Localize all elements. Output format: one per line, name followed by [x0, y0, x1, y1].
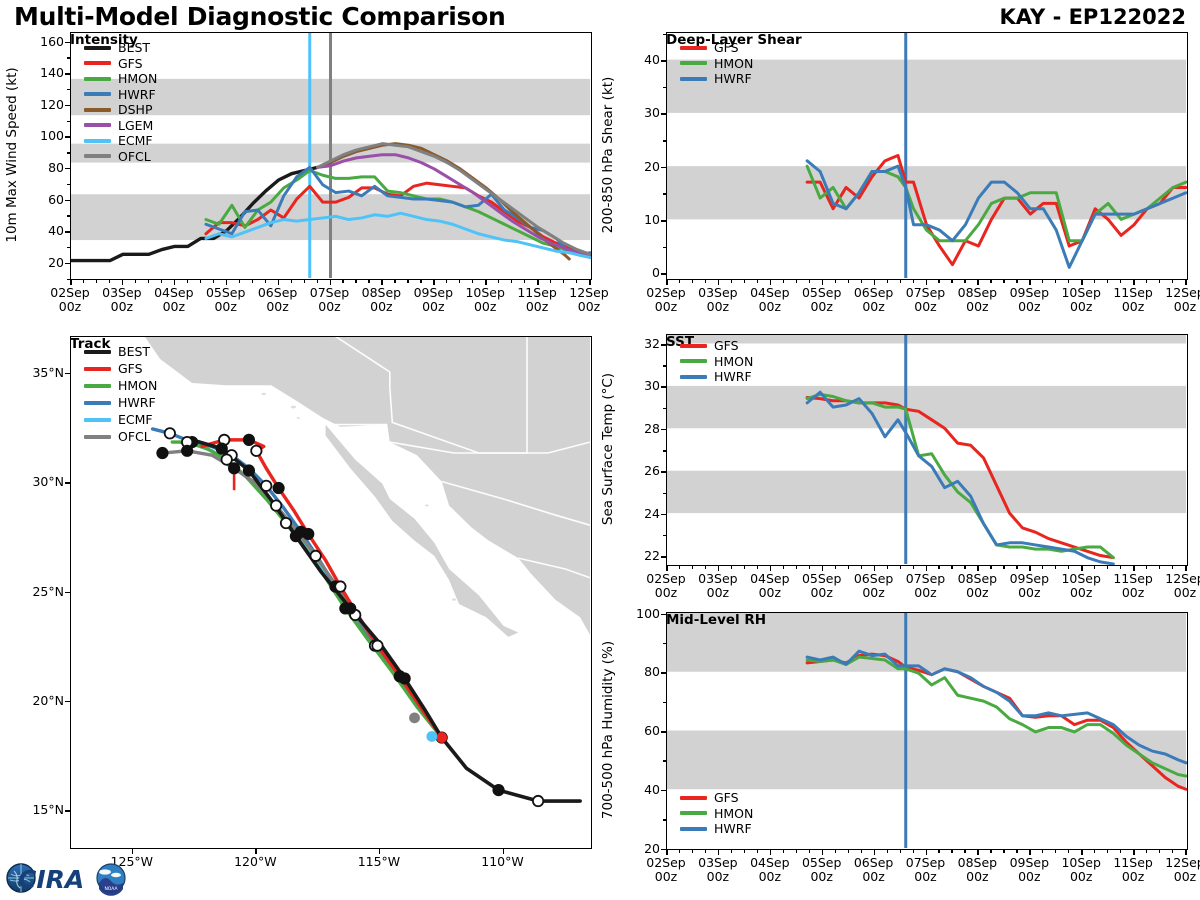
- sst-x-minor-tick: [731, 565, 732, 569]
- sst-x-minor-tick: [1068, 565, 1069, 569]
- legend-label-hwrf: HWRF: [118, 88, 156, 101]
- rh-x-minor-tick: [809, 849, 810, 853]
- sst-x-minor-tick: [1003, 565, 1004, 569]
- intensity-y-tick-mark: [65, 168, 71, 170]
- intensity-x-minor-tick: [550, 279, 551, 283]
- rh-x-minor-tick: [913, 849, 914, 853]
- rh-x-minor-tick: [1107, 849, 1108, 853]
- legend-swatch-hwrf: [84, 92, 111, 96]
- sst-legend[interactable]: GFSHMONHWRF: [680, 338, 753, 385]
- track-legend-item-hwrf[interactable]: HWRF: [84, 394, 157, 411]
- cira-logo: CIRA NOAA: [4, 858, 128, 898]
- legend-swatch-ofcl: [84, 154, 111, 158]
- rh-x-minor-tick: [783, 849, 784, 853]
- rh-x-minor-tick: [744, 849, 745, 853]
- shear-y-tick-label: 10: [624, 212, 660, 227]
- sst-x-minor-tick: [692, 565, 693, 569]
- legend-item-hwrf[interactable]: HWRF: [680, 821, 753, 837]
- track-lat-tick-mark: [65, 482, 71, 484]
- rh-x-minor-tick: [848, 849, 849, 853]
- sst-x-minor-tick: [990, 565, 991, 569]
- sst-x-minor-tick: [887, 565, 888, 569]
- sst-x-minor-tick: [1016, 565, 1017, 569]
- shear-x-minor-tick: [1094, 279, 1095, 283]
- sst-y-minor-tick: [663, 535, 667, 537]
- rh-y-tick-label: 60: [624, 723, 660, 738]
- shear-x-minor-tick: [731, 279, 732, 283]
- rh-x-minor-tick: [887, 849, 888, 853]
- sst-x-minor-tick: [809, 565, 810, 569]
- intensity-x-minor-tick: [200, 279, 201, 283]
- sst-x-minor-tick: [744, 565, 745, 569]
- rh-x-minor-tick: [964, 849, 965, 853]
- legend-swatch-hmon: [680, 61, 707, 65]
- intensity-y-tick-mark: [65, 263, 71, 265]
- rh-panel-title: Mid-Level RH: [666, 612, 1188, 628]
- rh-x-minor-tick: [990, 849, 991, 853]
- sst-x-minor-tick: [783, 565, 784, 569]
- track-legend-item-ecmf[interactable]: ECMF: [84, 411, 157, 428]
- legend-label-best: BEST: [118, 41, 150, 54]
- rh-x-tick-label: 12Sep00z: [1155, 856, 1200, 884]
- shear-x-minor-tick: [913, 279, 914, 283]
- intensity-x-minor-tick: [265, 279, 266, 283]
- rh-x-minor-tick: [938, 849, 939, 853]
- legend-item-gfs[interactable]: GFS: [680, 40, 753, 56]
- track-lat-tick-mark: [65, 592, 71, 594]
- shear-x-minor-tick: [809, 279, 810, 283]
- rh-y-tick-label: 20: [624, 841, 660, 856]
- legend-label-hmon: HMON: [714, 57, 753, 70]
- shear-y-tick-label: 20: [624, 159, 660, 174]
- intensity-y-tick-label: 40: [28, 223, 64, 238]
- legend-item-hmon[interactable]: HMON: [680, 56, 753, 72]
- intensity-x-minor-tick: [368, 279, 369, 283]
- intensity-x-minor-tick: [252, 279, 253, 283]
- rh-legend[interactable]: GFSHMONHWRF: [680, 790, 753, 837]
- track-legend-swatch-ofcl: [84, 435, 111, 439]
- intensity-x-minor-tick: [213, 279, 214, 283]
- shear-x-minor-tick: [848, 279, 849, 283]
- intensity-x-minor-tick: [472, 279, 473, 283]
- shear-y-minor-tick: [663, 140, 667, 142]
- shear-x-minor-tick: [705, 279, 706, 283]
- legend-item-hwrf[interactable]: HWRF: [680, 71, 753, 87]
- sst-x-minor-tick: [835, 565, 836, 569]
- shear-y-tick-mark: [661, 60, 667, 62]
- rh-x-minor-tick: [951, 849, 952, 853]
- page-title: Multi-Model Diagnostic Comparison: [14, 2, 506, 31]
- intensity-x-minor-tick: [317, 279, 318, 283]
- intensity-x-minor-tick: [355, 279, 356, 283]
- rh-x-minor-tick: [731, 849, 732, 853]
- track-legend-item-hmon[interactable]: HMON: [84, 377, 157, 394]
- shear-x-minor-tick: [964, 279, 965, 283]
- track-lat-tick-label: 35°N: [12, 365, 64, 380]
- sst-x-minor-tick: [1172, 565, 1173, 569]
- shear-x-minor-tick: [1120, 279, 1121, 283]
- intensity-y-minor-tick: [67, 152, 71, 154]
- intensity-y-axis-label: 10m Max Wind Speed (kt): [4, 67, 20, 242]
- legend-item-lgem[interactable]: LGEM: [84, 118, 157, 134]
- intensity-x-minor-tick: [187, 279, 188, 283]
- legend-swatch-lgem: [84, 123, 111, 127]
- rh-x-minor-tick: [1094, 849, 1095, 853]
- intensity-x-minor-tick: [511, 279, 512, 283]
- intensity-x-minor-tick: [459, 279, 460, 283]
- intensity-y-tick-mark: [65, 73, 71, 75]
- shear-x-minor-tick: [692, 279, 693, 283]
- intensity-y-tick-mark: [65, 231, 71, 233]
- rh-x-minor-tick: [692, 849, 693, 853]
- legend-label-ecmf: ECMF: [118, 134, 153, 147]
- shear-y-tick-mark: [661, 220, 667, 222]
- sst-x-minor-tick: [913, 565, 914, 569]
- intensity-x-minor-tick: [563, 279, 564, 283]
- track-legend[interactable]: BESTGFSHMONHWRFECMFOFCL: [84, 343, 157, 445]
- sst-x-minor-tick: [1042, 565, 1043, 569]
- figure-root: Multi-Model Diagnostic Comparison KAY - …: [0, 0, 1200, 900]
- rh-y-tick-mark: [661, 731, 667, 733]
- track-legend-item-gfs[interactable]: GFS: [84, 360, 157, 377]
- legend-label-ofcl: OFCL: [118, 150, 151, 163]
- intensity-x-minor-tick: [148, 279, 149, 283]
- rh-x-minor-tick: [1159, 849, 1160, 853]
- legend-label-lgem: LGEM: [118, 119, 153, 132]
- rh-y-tick-mark: [661, 790, 667, 792]
- legend-label-gfs: GFS: [714, 41, 739, 54]
- shear-x-minor-tick: [1172, 279, 1173, 283]
- legend-swatch-gfs: [680, 796, 707, 800]
- shear-x-minor-tick: [1159, 279, 1160, 283]
- sst-x-minor-tick: [951, 565, 952, 569]
- track-legend-label-best: BEST: [118, 345, 150, 358]
- rh-x-minor-tick: [835, 849, 836, 853]
- legend-label-gfs: GFS: [714, 791, 739, 804]
- legend-swatch-gfs: [84, 61, 111, 65]
- sst-x-minor-tick: [1094, 565, 1095, 569]
- legend-label-hmon: HMON: [118, 72, 157, 85]
- rh-x-minor-tick: [757, 849, 758, 853]
- rh-y-minor-tick: [663, 702, 667, 704]
- rh-x-minor-tick: [900, 849, 901, 853]
- sst-y-tick-label: 28: [624, 421, 660, 436]
- legend-swatch-hmon: [84, 77, 111, 81]
- legend-label-dshp: DSHP: [118, 103, 153, 116]
- track-legend-label-hwrf: HWRF: [118, 396, 156, 409]
- legend-label-hwrf: HWRF: [714, 72, 752, 85]
- storm-identifier: KAY - EP122022: [1000, 5, 1186, 29]
- sst-x-minor-tick: [938, 565, 939, 569]
- legend-swatch-gfs: [680, 46, 707, 50]
- legend-item-hwrf[interactable]: HWRF: [84, 87, 157, 103]
- shear-x-minor-tick: [1042, 279, 1043, 283]
- track-lat-tick-label: 20°N: [12, 693, 64, 708]
- legend-label-hwrf: HWRF: [714, 822, 752, 835]
- track-legend-label-gfs: GFS: [118, 362, 143, 375]
- track-legend-item-best[interactable]: BEST: [84, 343, 157, 360]
- rh-x-minor-tick: [1042, 849, 1043, 853]
- shear-x-minor-tick: [1107, 279, 1108, 283]
- shear-y-minor-tick: [663, 193, 667, 195]
- shear-y-minor-tick: [663, 247, 667, 249]
- sst-y-tick-label: 32: [624, 336, 660, 351]
- shear-x-minor-tick: [783, 279, 784, 283]
- intensity-y-tick-label: 20: [28, 255, 64, 270]
- track-lon-tick-label: 110°W: [468, 855, 538, 869]
- rh-y-tick-mark: [661, 672, 667, 674]
- rh-x-minor-tick: [705, 849, 706, 853]
- legend-item-gfs[interactable]: GFS: [84, 56, 157, 72]
- legend-item-gfs[interactable]: GFS: [680, 790, 753, 806]
- intensity-x-minor-tick: [109, 279, 110, 283]
- shear-x-minor-tick: [951, 279, 952, 283]
- intensity-y-tick-label: 120: [28, 97, 64, 112]
- sst-x-tick-label: 12Sep00z: [1155, 572, 1200, 600]
- track-legend-item-ofcl[interactable]: OFCL: [84, 428, 157, 445]
- intensity-x-minor-tick: [446, 279, 447, 283]
- sst-y-tick-label: 24: [624, 506, 660, 521]
- track-legend-label-ecmf: ECMF: [118, 413, 153, 426]
- shear-x-minor-tick: [835, 279, 836, 283]
- rh-y-minor-tick: [663, 819, 667, 821]
- shear-x-minor-tick: [938, 279, 939, 283]
- sst-y-tick-mark: [661, 429, 667, 431]
- legend-item-hmon[interactable]: HMON: [84, 71, 157, 87]
- legend-item-hmon[interactable]: HMON: [680, 354, 753, 370]
- rh-y-tick-label: 100: [624, 606, 660, 621]
- shear-y-tick-mark: [661, 167, 667, 169]
- sst-x-minor-tick: [796, 565, 797, 569]
- intensity-x-minor-tick: [342, 279, 343, 283]
- shear-x-minor-tick: [1003, 279, 1004, 283]
- intensity-y-minor-tick: [67, 247, 71, 249]
- shear-x-minor-tick: [861, 279, 862, 283]
- shear-x-tick-label: 12Sep00z: [1155, 286, 1200, 314]
- legend-label-gfs: GFS: [118, 57, 143, 70]
- intensity-x-minor-tick: [96, 279, 97, 283]
- shear-y-tick-mark: [661, 273, 667, 275]
- shear-x-minor-tick: [796, 279, 797, 283]
- shear-x-minor-tick: [1146, 279, 1147, 283]
- intensity-y-tick-label: 60: [28, 192, 64, 207]
- intensity-y-minor-tick: [67, 121, 71, 123]
- intensity-x-minor-tick: [304, 279, 305, 283]
- intensity-y-tick-mark: [65, 200, 71, 202]
- rh-x-minor-tick: [1146, 849, 1147, 853]
- track-legend-label-ofcl: OFCL: [118, 430, 151, 443]
- legend-item-gfs[interactable]: GFS: [680, 338, 753, 354]
- sst-x-minor-tick: [1146, 565, 1147, 569]
- sst-x-minor-tick: [679, 565, 680, 569]
- sst-y-tick-mark: [661, 386, 667, 388]
- intensity-x-minor-tick: [291, 279, 292, 283]
- intensity-x-minor-tick: [576, 279, 577, 283]
- intensity-y-tick-label: 100: [28, 128, 64, 143]
- sst-x-minor-tick: [1107, 565, 1108, 569]
- sst-y-minor-tick: [663, 408, 667, 410]
- intensity-x-minor-tick: [135, 279, 136, 283]
- sst-x-minor-tick: [705, 565, 706, 569]
- shear-y-tick-label: 30: [624, 105, 660, 120]
- intensity-y-minor-tick: [67, 215, 71, 217]
- sst-y-tick-label: 22: [624, 548, 660, 563]
- intensity-x-minor-tick: [394, 279, 395, 283]
- shear-x-minor-tick: [900, 279, 901, 283]
- intensity-y-minor-tick: [67, 89, 71, 91]
- legend-label-gfs: GFS: [714, 339, 739, 352]
- track-legend-swatch-gfs: [84, 367, 111, 371]
- intensity-x-minor-tick: [239, 279, 240, 283]
- legend-item-ecmf[interactable]: ECMF: [84, 133, 157, 149]
- intensity-y-tick-label: 80: [28, 160, 64, 175]
- legend-swatch-hmon: [680, 811, 707, 815]
- intensity-y-tick-label: 160: [28, 34, 64, 49]
- sst-y-minor-tick: [663, 493, 667, 495]
- track-legend-swatch-best: [84, 350, 111, 354]
- intensity-x-tick-label: 12Sep00z: [559, 286, 619, 314]
- rh-x-minor-tick: [1055, 849, 1056, 853]
- rh-y-tick-label: 40: [624, 782, 660, 797]
- shear-x-minor-tick: [744, 279, 745, 283]
- rh-x-minor-tick: [1068, 849, 1069, 853]
- legend-swatch-hwrf: [680, 77, 707, 81]
- track-legend-label-hmon: HMON: [118, 379, 157, 392]
- sst-x-minor-tick: [900, 565, 901, 569]
- shear-x-minor-tick: [1055, 279, 1056, 283]
- rh-x-minor-tick: [796, 849, 797, 853]
- rh-y-minor-tick: [663, 760, 667, 762]
- rh-x-minor-tick: [1120, 849, 1121, 853]
- legend-label-hmon: HMON: [714, 355, 753, 368]
- sst-x-minor-tick: [757, 565, 758, 569]
- intensity-x-minor-tick: [407, 279, 408, 283]
- legend-item-best[interactable]: BEST: [84, 40, 157, 56]
- sst-x-minor-tick: [1159, 565, 1160, 569]
- track-lat-tick-label: 25°N: [12, 584, 64, 599]
- intensity-y-tick-mark: [65, 105, 71, 107]
- intensity-x-minor-tick: [498, 279, 499, 283]
- rh-x-minor-tick: [861, 849, 862, 853]
- track-lon-tick-label: 120°W: [220, 855, 290, 869]
- sst-y-tick-label: 30: [624, 378, 660, 393]
- legend-swatch-dshp: [84, 108, 111, 112]
- shear-x-minor-tick: [757, 279, 758, 283]
- legend-swatch-best: [84, 46, 111, 50]
- intensity-x-minor-tick: [161, 279, 162, 283]
- legend-item-hmon[interactable]: HMON: [680, 806, 753, 822]
- shear-x-minor-tick: [1016, 279, 1017, 283]
- intensity-y-minor-tick: [67, 184, 71, 186]
- shear-x-minor-tick: [887, 279, 888, 283]
- legend-item-hwrf[interactable]: HWRF: [680, 369, 753, 385]
- track-lat-tick-label: 30°N: [12, 474, 64, 489]
- legend-swatch-hmon: [680, 359, 707, 363]
- track-legend-swatch-hmon: [84, 384, 111, 388]
- sst-y-tick-mark: [661, 514, 667, 516]
- rh-y-axis-label: 700-500 hPa Humidity (%): [600, 640, 616, 818]
- sst-y-tick-mark: [661, 471, 667, 473]
- legend-swatch-ecmf: [84, 139, 111, 143]
- track-legend-swatch-ecmf: [84, 418, 111, 422]
- sst-y-tick-mark: [661, 556, 667, 558]
- intensity-x-minor-tick: [83, 279, 84, 283]
- legend-label-hmon: HMON: [714, 807, 753, 820]
- legend-label-hwrf: HWRF: [714, 370, 752, 383]
- intensity-x-minor-tick: [524, 279, 525, 283]
- shear-y-minor-tick: [663, 87, 667, 89]
- sst-x-minor-tick: [848, 565, 849, 569]
- legend-swatch-hwrf: [680, 375, 707, 379]
- sst-x-minor-tick: [1120, 565, 1121, 569]
- track-legend-swatch-hwrf: [84, 401, 111, 405]
- track-lat-tick-mark: [65, 701, 71, 703]
- intensity-y-minor-tick: [67, 57, 71, 59]
- shear-y-tick-label: 40: [624, 52, 660, 67]
- shear-y-axis-label: 200-850 hPa Shear (kt): [600, 76, 616, 233]
- track-lat-tick-mark: [65, 810, 71, 812]
- track-lon-tick-label: 115°W: [344, 855, 414, 869]
- track-lat-tick-mark: [65, 373, 71, 375]
- rh-x-minor-tick: [1016, 849, 1017, 853]
- sst-x-minor-tick: [1055, 565, 1056, 569]
- shear-y-tick-mark: [661, 113, 667, 115]
- intensity-y-tick-label: 140: [28, 65, 64, 80]
- rh-x-minor-tick: [679, 849, 680, 853]
- shear-x-minor-tick: [679, 279, 680, 283]
- legend-item-dshp[interactable]: DSHP: [84, 102, 157, 118]
- shear-x-minor-tick: [990, 279, 991, 283]
- sst-y-tick-label: 26: [624, 463, 660, 478]
- rh-y-tick-label: 80: [624, 664, 660, 679]
- intensity-y-tick-mark: [65, 136, 71, 138]
- sst-x-minor-tick: [964, 565, 965, 569]
- track-lat-tick-label: 15°N: [12, 802, 64, 817]
- shear-x-minor-tick: [1068, 279, 1069, 283]
- sst-x-minor-tick: [861, 565, 862, 569]
- intensity-x-minor-tick: [420, 279, 421, 283]
- cira-logo-icon: CIRA NOAA: [4, 858, 128, 898]
- rh-x-minor-tick: [1172, 849, 1173, 853]
- svg-text:CIRA: CIRA: [18, 865, 84, 894]
- shear-legend[interactable]: GFSHMONHWRF: [680, 40, 753, 87]
- sst-y-minor-tick: [663, 365, 667, 367]
- legend-swatch-gfs: [680, 344, 707, 348]
- legend-swatch-hwrf: [680, 827, 707, 831]
- sst-y-axis-label: Sea Surface Temp (°C): [600, 372, 616, 524]
- legend-item-ofcl[interactable]: OFCL: [84, 149, 157, 165]
- rh-y-minor-tick: [663, 643, 667, 645]
- shear-y-tick-label: 0: [624, 265, 660, 280]
- intensity-legend[interactable]: BESTGFSHMONHWRFDSHPLGEMECMFOFCL: [84, 40, 157, 164]
- sst-y-minor-tick: [663, 450, 667, 452]
- rh-x-minor-tick: [1003, 849, 1004, 853]
